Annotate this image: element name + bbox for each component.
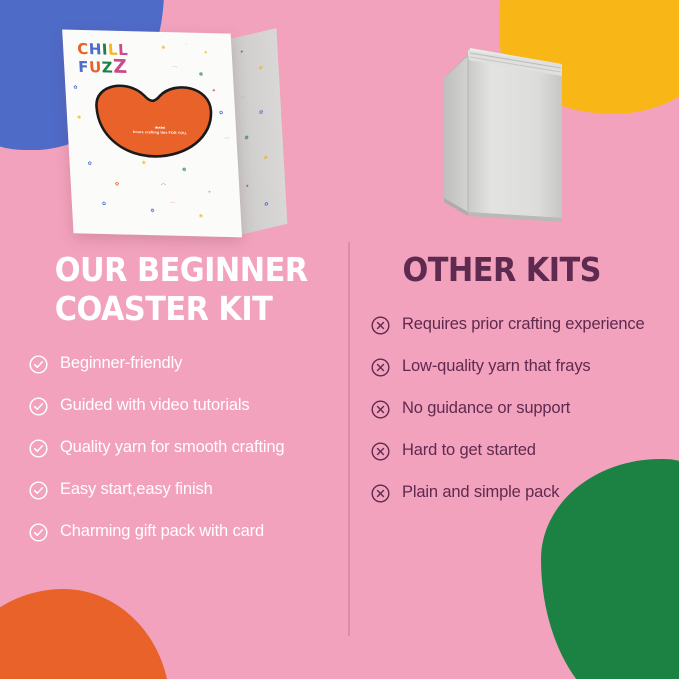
x-circle-icon xyxy=(370,357,391,378)
list-item: Quality yarn for smooth crafting xyxy=(28,436,340,459)
x-circle-icon xyxy=(370,399,391,420)
list-item-label: Quality yarn for smooth crafting xyxy=(60,436,284,458)
list-item: Requires prior crafting experience xyxy=(370,313,662,336)
heart-shape xyxy=(83,76,224,161)
check-circle-icon xyxy=(28,354,49,375)
logo-letter: F xyxy=(78,60,90,75)
list-item: Hard to get started xyxy=(370,439,662,462)
check-circle-icon xyxy=(28,438,49,459)
check-circle-icon xyxy=(28,522,49,543)
list-item-label: No guidance or support xyxy=(402,397,570,419)
our-kit-heading: OUR BEGINNER COASTER KIT xyxy=(18,250,314,328)
other-kits-heading: OTHER KITS xyxy=(362,250,638,289)
logo-letter: Z xyxy=(113,60,128,75)
x-circle-icon xyxy=(370,315,391,336)
box-front-panel: ❀ · ✦ ︵ ❁ ✦ ✿ ✿ ❀ ︵ ✿ ❀ ❁ ✿ ︵ ✦ ✿ ❁ ❀ · … xyxy=(62,30,242,238)
our-kit-column: OUR BEGINNER COASTER KIT Beginner-friend… xyxy=(18,250,340,562)
list-item-label: Guided with video tutorials xyxy=(60,394,249,416)
list-item: Guided with video tutorials xyxy=(28,394,340,417)
heart-graphic: devoted hours crafting this FOR YOU. xyxy=(83,76,224,161)
column-divider xyxy=(348,242,350,636)
list-item-label: Charming gift pack with card xyxy=(60,520,264,542)
list-item-label: Hard to get started xyxy=(402,439,536,461)
list-item: No guidance or support xyxy=(370,397,662,420)
comparison-infographic: ✦ ❀ ︵ ✿ ❁ ❀ ✦ ✿ ❀ · ✦ ︵ ❁ ✦ ✿ ✿ ❀ ︵ ✿ ❀ … xyxy=(0,0,679,679)
brand-logo-line-2: FUZZ xyxy=(78,59,130,76)
list-item-label: Low-quality yarn that frays xyxy=(402,355,591,377)
heart-caption-line-2: hours crafting this FOR YOU. xyxy=(133,130,187,135)
logo-letter: Z xyxy=(101,60,113,75)
list-item-label: Easy start,easy finish xyxy=(60,478,213,500)
logo-letter: C xyxy=(77,42,89,57)
list-item: Low-quality yarn that frays xyxy=(370,355,662,378)
pouch-bag-image xyxy=(434,26,574,231)
x-circle-icon xyxy=(370,441,391,462)
product-box-image: ✦ ❀ ︵ ✿ ❁ ❀ ✦ ✿ ❀ · ✦ ︵ ❁ ✦ ✿ ✿ ❀ ︵ ✿ ❀ … xyxy=(62,16,294,246)
check-circle-icon xyxy=(28,480,49,501)
list-item: Plain and simple pack xyxy=(370,481,662,504)
list-item: Easy start,easy finish xyxy=(28,478,340,501)
check-circle-icon xyxy=(28,396,49,417)
logo-letter: U xyxy=(89,60,103,75)
list-item: Beginner-friendly xyxy=(28,352,340,375)
other-kits-feature-list: Requires prior crafting experience Low-q… xyxy=(362,313,662,504)
list-item-label: Beginner-friendly xyxy=(60,352,182,374)
list-item-label: Plain and simple pack xyxy=(402,481,559,503)
bottom-left-blob xyxy=(0,589,170,679)
x-circle-icon xyxy=(370,483,391,504)
our-kit-feature-list: Beginner-friendly Guided with video tuto… xyxy=(18,352,340,543)
other-kits-column: OTHER KITS Requires prior crafting exper… xyxy=(362,250,662,523)
list-item: Charming gift pack with card xyxy=(28,520,340,543)
brand-logo: CHILL FUZZ xyxy=(77,42,130,76)
list-item-label: Requires prior crafting experience xyxy=(402,313,645,335)
logo-letter: H xyxy=(88,42,102,57)
